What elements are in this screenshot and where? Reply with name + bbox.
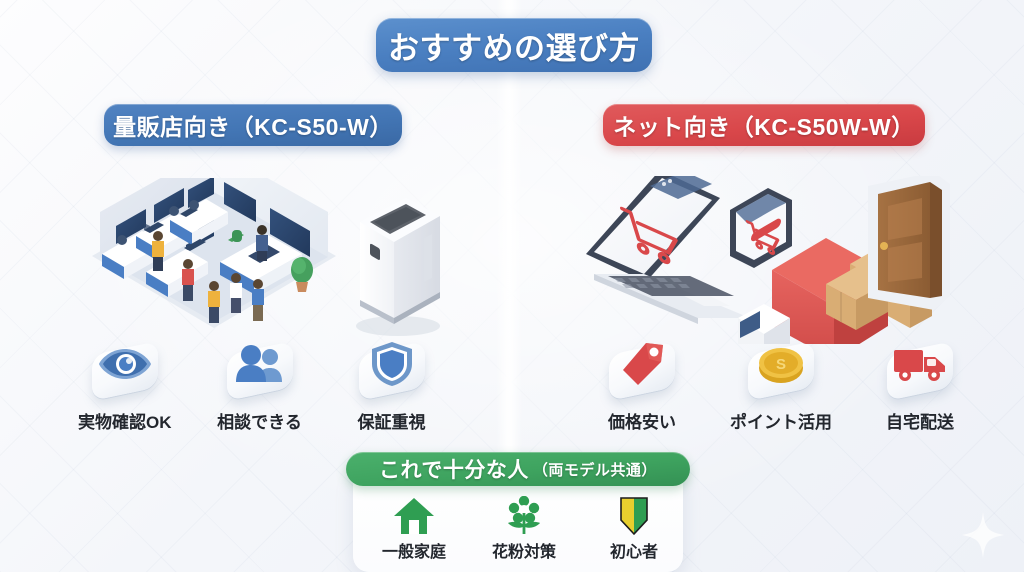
common-models-badge-main: これで十分な人 (379, 454, 529, 484)
sparkle-icon (962, 512, 1004, 558)
feature-label: ポイント活用 (730, 408, 832, 433)
feature-label: 保証重視 (358, 408, 426, 433)
common-item-ippan-katei[interactable]: 一般家庭 (368, 496, 460, 562)
feature-point-katsuyou[interactable]: S ポイント活用 (730, 340, 832, 433)
house-icon (393, 496, 435, 536)
people-icon (234, 344, 286, 384)
left-column-badge: 量販店向き（KC-S50-W） (104, 104, 402, 146)
right-column-badge: ネット向き（KC-S50W-W） (603, 104, 925, 146)
flower-icon (503, 496, 545, 536)
feature-jitaku-haisou[interactable]: 自宅配送 (876, 340, 964, 433)
common-models-badge-sub: （両モデル共通） (533, 459, 657, 480)
svg-text:S: S (776, 356, 786, 373)
online-shopping-illustration (578, 176, 950, 344)
common-models-badge: これで十分な人（両モデル共通） (346, 452, 690, 486)
coin-icon: S (757, 343, 805, 385)
common-item-label: 初心者 (610, 538, 658, 562)
pedestal (598, 340, 686, 402)
beginner-mark-icon (613, 496, 655, 536)
left-feature-row: 実物確認OK 相談できる (78, 340, 436, 433)
common-item-label: 花粉対策 (492, 538, 556, 562)
feature-kakaku-yasui[interactable]: 価格安い (598, 340, 686, 433)
pedestal (876, 340, 964, 402)
eye-icon (98, 345, 152, 383)
common-item-shoshinsha[interactable]: 初心者 (588, 496, 680, 562)
feature-jitsubutsu-kakunin[interactable]: 実物確認OK (78, 340, 172, 433)
feature-soudan-dekiru[interactable]: 相談できる (216, 340, 304, 433)
right-feature-row: 価格安い S ポイント活用 (598, 340, 964, 433)
air-purifier-illustration (344, 192, 448, 340)
common-item-label: 一般家庭 (382, 538, 446, 562)
electronics-store-illustration (88, 178, 340, 342)
price-tag-icon (619, 341, 665, 387)
feature-label: 実物確認OK (78, 408, 172, 433)
page-title: おすすめの選び方 (376, 18, 652, 72)
feature-hoshou-juushi[interactable]: 保証重視 (348, 340, 436, 433)
infographic-canvas: おすすめの選び方 量販店向き（KC-S50-W） ネット向き（KC-S50W-W… (0, 0, 1024, 572)
feature-label: 価格安い (608, 408, 676, 433)
feature-label: 自宅配送 (886, 408, 954, 433)
pedestal (81, 340, 169, 402)
delivery-truck-icon (893, 344, 947, 384)
pedestal: S (737, 340, 825, 402)
shield-icon (370, 341, 414, 387)
pedestal (216, 340, 304, 402)
pedestal (348, 340, 436, 402)
common-item-kafun-taisaku[interactable]: 花粉対策 (478, 496, 570, 562)
common-models-icon-row: 一般家庭 花粉対策 (368, 496, 680, 562)
feature-label: 相談できる (217, 408, 302, 433)
